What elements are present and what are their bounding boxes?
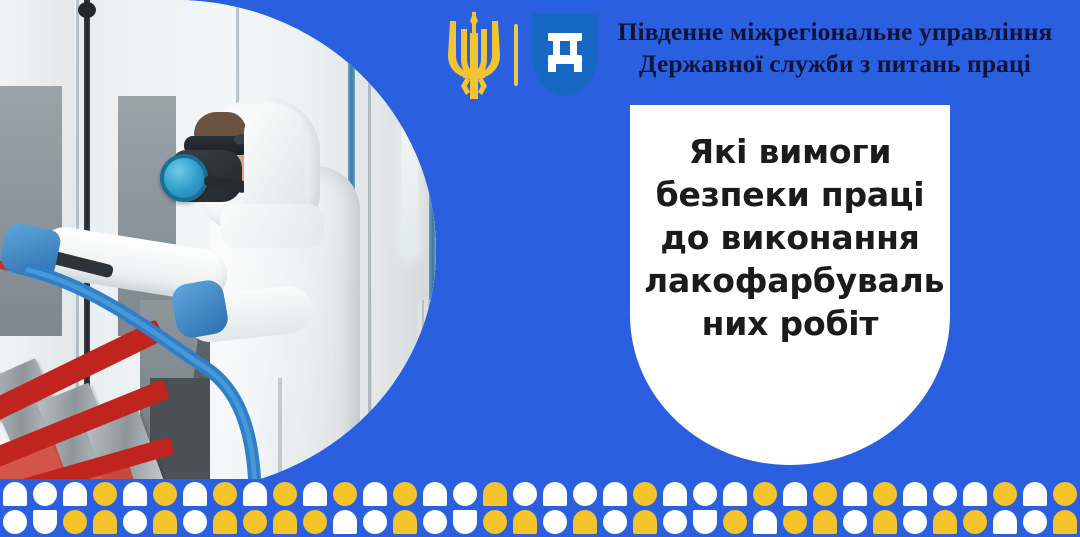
- pattern-cell: [780, 482, 810, 507]
- pattern-circle-icon: [93, 482, 117, 506]
- pattern-cell: [150, 482, 180, 507]
- pattern-cell: [900, 510, 930, 535]
- pattern-circle-icon: [273, 482, 297, 506]
- pattern-cell: [810, 482, 840, 507]
- pattern-circle-icon: [813, 482, 837, 506]
- pattern-cell: [330, 510, 360, 535]
- pattern-circle-icon: [543, 510, 567, 534]
- pattern-circle-icon: [753, 482, 777, 506]
- pattern-cell: [660, 510, 690, 535]
- pattern-circle-icon: [873, 482, 897, 506]
- pattern-circle-icon: [633, 482, 657, 506]
- pattern-circle-icon: [303, 510, 327, 534]
- pattern-cell: [270, 510, 300, 535]
- pattern-arch-icon: [783, 482, 807, 506]
- pattern-circle-icon: [603, 510, 627, 534]
- pattern-circle-icon: [483, 510, 507, 534]
- pattern-cell: [870, 510, 900, 535]
- pattern-arch-icon: [483, 482, 507, 506]
- pattern-circle-icon: [663, 510, 687, 534]
- pattern-circle-icon: [3, 510, 27, 534]
- pattern-circle-icon: [363, 510, 387, 534]
- pattern-arch-down-icon: [33, 510, 57, 534]
- pattern-arch-icon: [153, 510, 177, 534]
- organisation-logo-group: [446, 6, 602, 104]
- pattern-cell: [1020, 482, 1050, 507]
- headline-line-1: Які вимоги: [644, 131, 936, 174]
- pattern-cell: [60, 510, 90, 535]
- pattern-arch-icon: [273, 510, 297, 534]
- pattern-cell: [990, 510, 1020, 535]
- pattern-arch-icon: [603, 482, 627, 506]
- pattern-cell: [390, 510, 420, 535]
- pattern-circle-icon: [903, 510, 927, 534]
- pattern-cell: [330, 482, 360, 507]
- pattern-arch-icon: [63, 482, 87, 506]
- pattern-circle-icon: [63, 510, 87, 534]
- pattern-cell: [960, 482, 990, 507]
- pattern-arch-icon: [843, 482, 867, 506]
- pattern-cell: [900, 482, 930, 507]
- headline-line-3: до виконання: [644, 217, 936, 260]
- pattern-arch-icon: [543, 482, 567, 506]
- pattern-cell: [270, 482, 300, 507]
- pattern-arch-icon: [813, 510, 837, 534]
- pattern-cell: [780, 510, 810, 535]
- pattern-cell: [750, 510, 780, 535]
- pattern-circle-icon: [183, 510, 207, 534]
- pattern-cell: [120, 482, 150, 507]
- pattern-cell: [930, 510, 960, 535]
- pattern-arch-down-icon: [693, 510, 717, 534]
- pattern-cell: [960, 510, 990, 535]
- pattern-arch-icon: [93, 510, 117, 534]
- pattern-arch-icon: [663, 482, 687, 506]
- pattern-cell: [390, 482, 420, 507]
- pattern-cell: [450, 482, 480, 507]
- headline-line-4: лакофарбуваль: [644, 260, 936, 303]
- pattern-circle-icon: [123, 510, 147, 534]
- pattern-cell: [450, 510, 480, 535]
- pattern-cell: [600, 510, 630, 535]
- headline-line-2: безпеки праці: [644, 174, 936, 217]
- pattern-cell: [30, 482, 60, 507]
- pattern-cell: [750, 482, 780, 507]
- pattern-cell: [300, 510, 330, 535]
- org-title-line-2: Державної служби з питань праці: [600, 48, 1070, 80]
- pattern-cell: [870, 482, 900, 507]
- pattern-cell: [90, 482, 120, 507]
- pattern-cell: [240, 510, 270, 535]
- labour-service-shield-icon: [528, 9, 602, 101]
- pattern-arch-icon: [123, 482, 147, 506]
- pattern-cell: [60, 482, 90, 507]
- pattern-arch-icon: [903, 482, 927, 506]
- pattern-cell: [210, 482, 240, 507]
- pattern-cell: [510, 482, 540, 507]
- pattern-arch-icon: [1023, 482, 1047, 506]
- pattern-arch-icon: [363, 482, 387, 506]
- pattern-arch-icon: [963, 482, 987, 506]
- pattern-arch-icon: [183, 482, 207, 506]
- pattern-cell: [90, 510, 120, 535]
- pattern-cell: [810, 510, 840, 535]
- pattern-cell: [420, 482, 450, 507]
- pattern-arch-down-icon: [453, 510, 477, 534]
- headline-text: Які вимоги безпеки праці до виконання ла…: [644, 131, 936, 345]
- pattern-cell: [510, 510, 540, 535]
- pattern-cell: [210, 510, 240, 535]
- pattern-circle-icon: [213, 482, 237, 506]
- pattern-arch-icon: [633, 510, 657, 534]
- pattern-arch-icon: [393, 510, 417, 534]
- pattern-cell: [690, 482, 720, 507]
- pattern-circle-icon: [153, 482, 177, 506]
- pattern-cell: [180, 482, 210, 507]
- pattern-circle-icon: [843, 510, 867, 534]
- vertical-divider-icon: [514, 24, 518, 86]
- spray-painting-worker-photo: [0, 0, 436, 492]
- pattern-cell: [240, 482, 270, 507]
- decorative-pattern-band: [0, 479, 1080, 537]
- pattern-cell: [600, 482, 630, 507]
- pattern-circle-icon: [723, 510, 747, 534]
- pattern-circle-icon: [1023, 510, 1047, 534]
- pattern-row-bottom: [0, 510, 1080, 535]
- pattern-cell: [1050, 482, 1080, 507]
- pattern-cell: [300, 482, 330, 507]
- pattern-cell: [690, 510, 720, 535]
- pattern-arch-icon: [513, 510, 537, 534]
- pattern-cell: [420, 510, 450, 535]
- pattern-circle-icon: [333, 482, 357, 506]
- pattern-cell: [660, 482, 690, 507]
- pattern-circle-icon: [393, 482, 417, 506]
- pattern-circle-icon: [933, 482, 957, 506]
- pattern-arch-icon: [423, 482, 447, 506]
- pattern-cell: [570, 510, 600, 535]
- pattern-cell: [570, 482, 600, 507]
- pattern-cell: [0, 482, 30, 507]
- org-title-line-1: Південне міжрегіональне управління: [600, 16, 1070, 48]
- pattern-arch-icon: [723, 482, 747, 506]
- pattern-cell: [630, 510, 660, 535]
- pattern-cell: [480, 510, 510, 535]
- pattern-cell: [360, 510, 390, 535]
- pattern-arch-icon: [3, 482, 27, 506]
- pattern-circle-icon: [993, 482, 1017, 506]
- pattern-cell: [840, 510, 870, 535]
- pattern-circle-icon: [243, 510, 267, 534]
- headline-card: Які вимоги безпеки праці до виконання ла…: [630, 105, 950, 465]
- pattern-cell: [540, 482, 570, 507]
- pattern-circle-icon: [423, 510, 447, 534]
- ukraine-trident-icon: [446, 9, 502, 101]
- pattern-arch-icon: [303, 482, 327, 506]
- photo-scene: [0, 0, 436, 492]
- pattern-arch-icon: [993, 510, 1017, 534]
- pattern-arch-icon: [1053, 510, 1077, 534]
- pattern-arch-icon: [873, 510, 897, 534]
- pattern-circle-icon: [1053, 482, 1077, 506]
- pattern-cell: [360, 482, 390, 507]
- pattern-cell: [30, 510, 60, 535]
- pattern-arch-icon: [213, 510, 237, 534]
- pattern-cell: [150, 510, 180, 535]
- pattern-cell: [480, 482, 510, 507]
- pattern-circle-icon: [783, 510, 807, 534]
- pattern-arch-icon: [243, 482, 267, 506]
- pattern-circle-icon: [573, 482, 597, 506]
- pattern-arch-icon: [333, 510, 357, 534]
- poster-canvas: Південне міжрегіональне управління Держа…: [0, 0, 1080, 537]
- headline-line-5: них робіт: [644, 303, 936, 346]
- pattern-cell: [120, 510, 150, 535]
- pattern-arch-icon: [573, 510, 597, 534]
- pattern-arch-icon: [753, 510, 777, 534]
- pattern-row-top: [0, 482, 1080, 507]
- pattern-cell: [1050, 510, 1080, 535]
- pattern-circle-icon: [693, 482, 717, 506]
- organisation-title: Південне міжрегіональне управління Держа…: [600, 16, 1070, 79]
- pattern-circle-icon: [963, 510, 987, 534]
- pattern-cell: [720, 510, 750, 535]
- pattern-arch-icon: [933, 510, 957, 534]
- pattern-circle-icon: [33, 482, 57, 506]
- pattern-cell: [720, 482, 750, 507]
- pattern-circle-icon: [513, 482, 537, 506]
- pattern-cell: [990, 482, 1020, 507]
- pattern-cell: [630, 482, 660, 507]
- pattern-cell: [180, 510, 210, 535]
- pattern-cell: [930, 482, 960, 507]
- pattern-circle-icon: [453, 482, 477, 506]
- pattern-cell: [540, 510, 570, 535]
- photo-vignette: [0, 0, 436, 492]
- pattern-cell: [840, 482, 870, 507]
- pattern-cell: [1020, 510, 1050, 535]
- pattern-cell: [0, 510, 30, 535]
